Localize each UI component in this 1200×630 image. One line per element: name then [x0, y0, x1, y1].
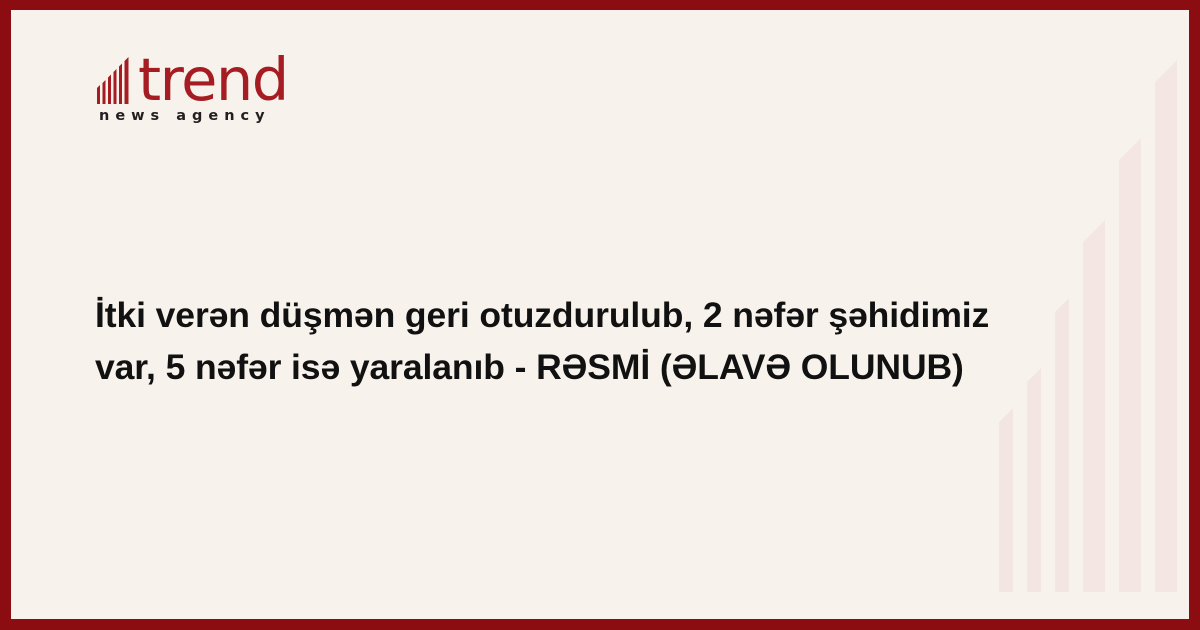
brand-logo[interactable]: trend news agency — [95, 46, 355, 124]
trend-bars-mark-icon — [95, 52, 137, 104]
headline-text: İtki verən düşmən geri otuzdurulub, 2 nə… — [95, 290, 1055, 394]
watermark-bar-4 — [1083, 220, 1105, 592]
logo-wordmark: trend — [138, 51, 288, 109]
logo-row: trend — [95, 46, 355, 106]
watermark-bar-6 — [1155, 60, 1177, 592]
watermark-bar-1 — [999, 408, 1013, 592]
card-canvas: trend news agency İtki verən düşmən geri… — [11, 10, 1189, 619]
watermark-bar-3 — [1055, 298, 1069, 592]
watermark-bar-2 — [1027, 368, 1041, 592]
share-card: trend news agency İtki verən düşmən geri… — [0, 0, 1200, 630]
watermark-bar-5 — [1119, 138, 1141, 592]
